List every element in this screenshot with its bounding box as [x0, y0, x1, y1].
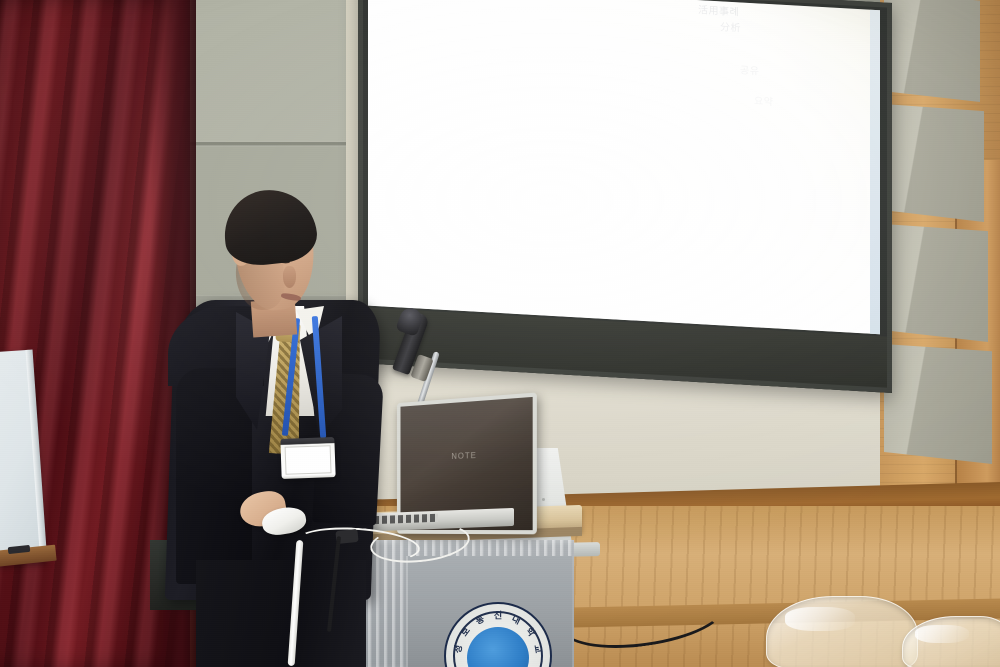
bag-sheen-2: [915, 625, 969, 643]
bag-sheen-1: [785, 607, 855, 631]
name-badge: [280, 437, 335, 479]
plastic-bag-1: [766, 596, 918, 667]
presenter: [0, 0, 1000, 667]
name-badge-text: [285, 445, 332, 475]
presentation-photo: 活用事례 分析 공유 요약 정보통신대학교: [0, 0, 1000, 667]
nose: [283, 266, 296, 288]
trousers: [196, 560, 366, 667]
